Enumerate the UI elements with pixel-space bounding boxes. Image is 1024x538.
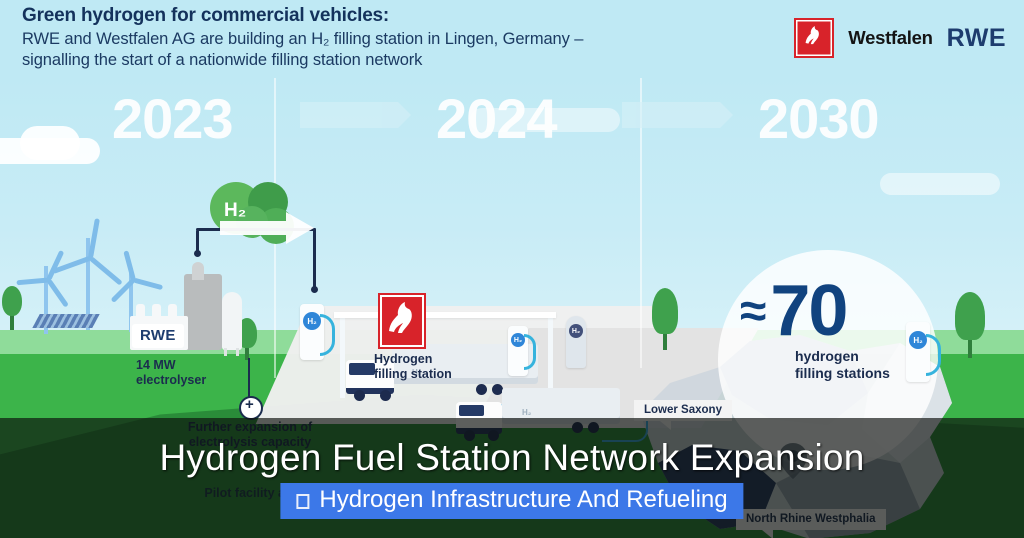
header-title: Green hydrogen for commercial vehicles: bbox=[22, 4, 762, 28]
flow-arrow-icon bbox=[220, 210, 316, 251]
target-caption: hydrogen filling stations bbox=[795, 348, 890, 382]
rwe-wordmark: RWE bbox=[947, 24, 1006, 53]
cloud-icon bbox=[880, 173, 1000, 195]
h2-badge-label: H₂ bbox=[913, 336, 922, 345]
header-subtitle: RWE and Westfalen AG are building an H₂ … bbox=[22, 29, 762, 71]
logo-group: Westfalen RWE bbox=[794, 18, 1006, 58]
westfalen-horse-icon bbox=[378, 293, 426, 349]
solar-panel-icon bbox=[32, 314, 99, 328]
timeline-year-2030: 2030 bbox=[758, 86, 879, 151]
tree-icon bbox=[648, 288, 682, 350]
westfalen-wordmark: Westfalen bbox=[848, 27, 932, 49]
overlay-title: Hydrogen Fuel Station Network Expansion bbox=[0, 437, 1024, 479]
overlay-badge-label: Hydrogen Infrastructure And Refueling bbox=[319, 486, 727, 514]
h2-badge: H₂ bbox=[569, 324, 583, 338]
h2-badge-label: H₂ bbox=[307, 317, 316, 326]
h2-badge: H₂ bbox=[511, 333, 525, 347]
target-number: ≈ 70 bbox=[740, 270, 846, 352]
h2-badge: H₂ bbox=[303, 312, 321, 330]
tree-icon bbox=[950, 292, 990, 358]
missing-glyph-box-icon bbox=[296, 494, 309, 509]
h2-badge: H₂ bbox=[909, 331, 927, 349]
station-canopy bbox=[334, 312, 556, 318]
timeline-arrow bbox=[622, 102, 720, 128]
timeline-years: 2023 2024 2030 bbox=[0, 78, 1024, 168]
pipeline-node bbox=[194, 250, 201, 257]
approx-symbol: ≈ bbox=[740, 284, 764, 339]
westfalen-horse-icon bbox=[794, 18, 834, 58]
canopy-post bbox=[548, 316, 553, 392]
hydrogen-dispenser-icon: H₂ bbox=[300, 304, 334, 362]
h2-badge-label: H₂ bbox=[572, 328, 580, 335]
h2-badge-label: H₂ bbox=[514, 337, 522, 344]
overlay-badge: Hydrogen Infrastructure And Refueling bbox=[280, 483, 743, 519]
infographic-screenshot: H₂ RWE 14 MW electrolyser bbox=[0, 0, 1024, 538]
hydrogen-dispenser-icon: H₂ bbox=[508, 326, 534, 380]
station-caption: Hydrogen filling station bbox=[374, 352, 452, 382]
electrolyser-caption: 14 MW electrolyser bbox=[136, 358, 206, 388]
header-text-block: Green hydrogen for commercial vehicles: … bbox=[22, 4, 762, 71]
timeline-year-2024: 2024 bbox=[436, 86, 557, 151]
rwe-plant-logo: RWE bbox=[132, 324, 184, 348]
target-count: 70 bbox=[770, 270, 846, 352]
plus-marker-icon: + bbox=[239, 396, 263, 420]
truck-h2-mark: H₂ bbox=[522, 408, 531, 417]
pipeline-node bbox=[311, 286, 318, 293]
tree-icon bbox=[0, 286, 24, 330]
header-bar: Green hydrogen for commercial vehicles: … bbox=[0, 0, 1024, 78]
hydrogen-dispenser-icon: H₂ bbox=[906, 322, 940, 386]
timeline-arrow bbox=[300, 102, 398, 128]
hydrogen-dispenser-icon: H₂ bbox=[566, 316, 592, 370]
timeline-year-2023: 2023 bbox=[112, 86, 233, 151]
